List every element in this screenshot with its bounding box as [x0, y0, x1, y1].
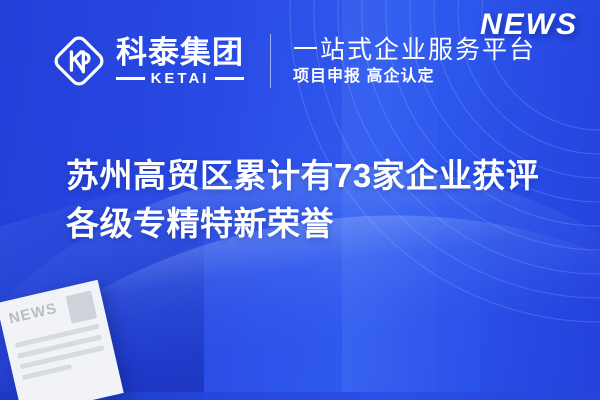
brand-name-cn: 科泰集团 — [116, 37, 244, 68]
newspaper-thumbnail — [66, 291, 98, 324]
header-divider — [270, 34, 271, 88]
tagline-primary: 一站式企业服务平台 — [293, 36, 536, 64]
wordmark-dash-right — [215, 77, 244, 80]
tagline-secondary: 项目申报 高企认定 — [293, 68, 536, 86]
brand-logo[interactable]: 科泰集团 KETAI — [52, 34, 244, 88]
wordmark-dash-left — [116, 77, 145, 80]
tagline-block: 一站式企业服务平台 项目申报 高企认定 — [293, 36, 536, 86]
newspaper-masthead: NEWS — [8, 301, 59, 327]
headline-title: 苏州高贸区累计有73家企业获评各级专精特新荣誉 — [66, 152, 558, 248]
ketai-kp-diamond-logo-icon — [52, 34, 106, 88]
news-banner: NEWS 科泰集团 KETAI 一站式企业服务平 — [0, 0, 600, 400]
brand-name-en: KETAI — [151, 71, 210, 86]
brand-name-en-row: KETAI — [116, 71, 244, 86]
brand-wordmark: 科泰集团 KETAI — [116, 37, 244, 86]
banner-header: 科泰集团 KETAI 一站式企业服务平台 项目申报 高企认定 — [52, 34, 536, 88]
